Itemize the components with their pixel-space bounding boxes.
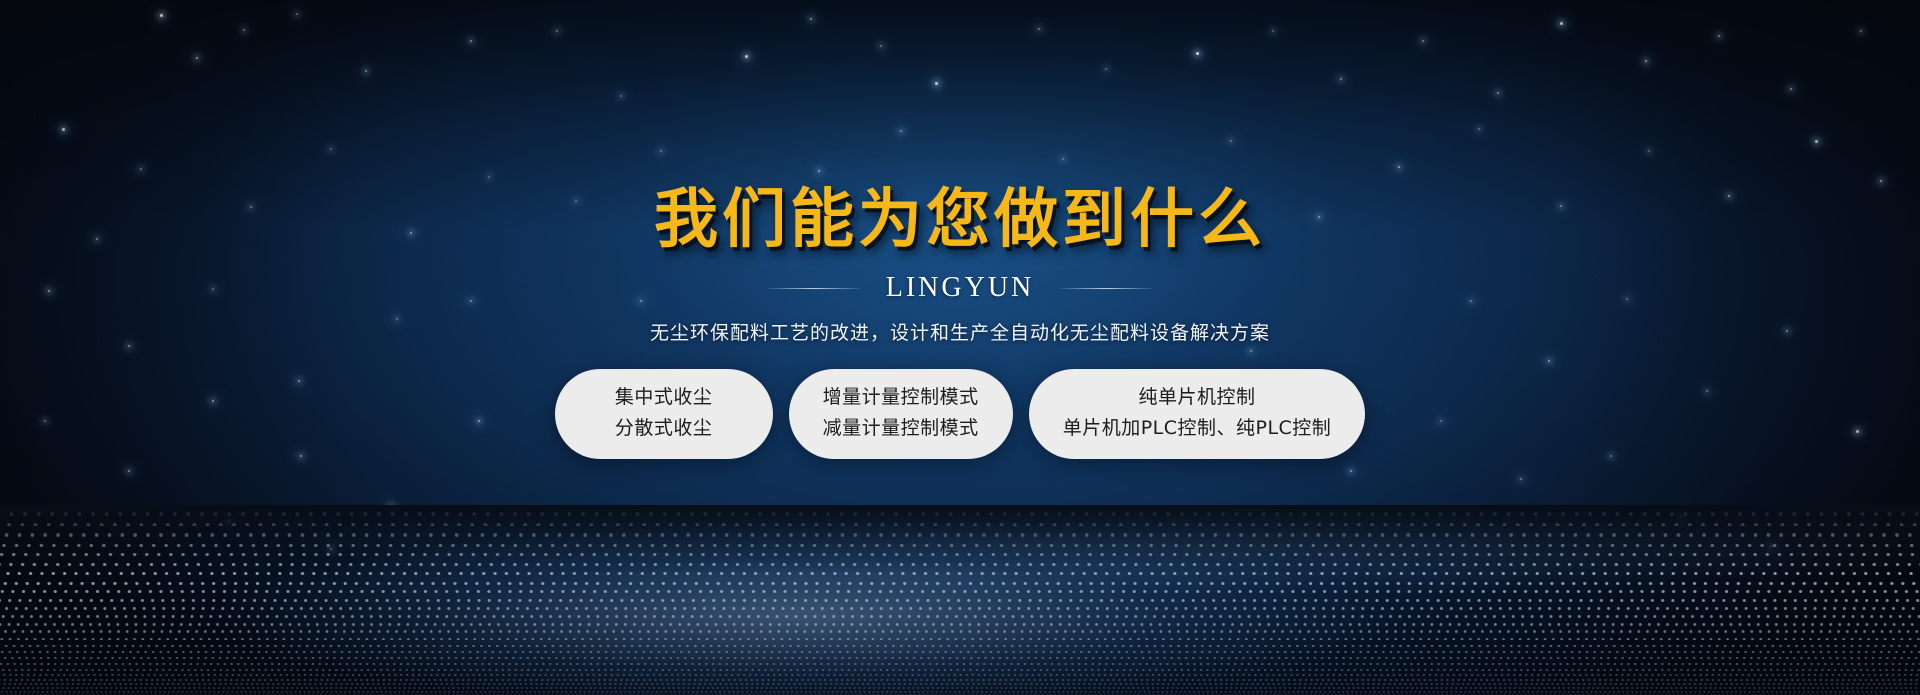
brand-row: LINGYUN — [768, 274, 1153, 302]
decorative-line-left — [768, 288, 860, 289]
banner-content: 我们能为您做到什么 LINGYUN 无尘环保配料工艺的改进，设计和生产全自动化无… — [0, 0, 1920, 695]
brand-name: LINGYUN — [886, 274, 1035, 302]
feature-card-line: 纯单片机控制 — [1138, 388, 1255, 407]
feature-card-line: 集中式收尘 — [615, 388, 713, 407]
decorative-line-right — [1060, 288, 1152, 289]
page-title: 我们能为您做到什么 — [654, 188, 1266, 252]
feature-card[interactable]: 集中式收尘 分散式收尘 — [555, 369, 773, 459]
subtitle: 无尘环保配料工艺的改进，设计和生产全自动化无尘配料设备解决方案 — [650, 324, 1270, 343]
feature-card-line: 增量计量控制模式 — [823, 388, 979, 407]
feature-card-list: 集中式收尘 分散式收尘 增量计量控制模式 减量计量控制模式 纯单片机控制 单片机… — [555, 369, 1366, 459]
feature-card[interactable]: 增量计量控制模式 减量计量控制模式 — [789, 369, 1013, 459]
feature-card-line: 分散式收尘 — [615, 419, 713, 438]
feature-card-line: 减量计量控制模式 — [823, 419, 979, 438]
hero-banner: 我们能为您做到什么 LINGYUN 无尘环保配料工艺的改进，设计和生产全自动化无… — [0, 0, 1920, 695]
feature-card[interactable]: 纯单片机控制 单片机加PLC控制、纯PLC控制 — [1029, 369, 1366, 459]
feature-card-line: 单片机加PLC控制、纯PLC控制 — [1063, 419, 1332, 438]
